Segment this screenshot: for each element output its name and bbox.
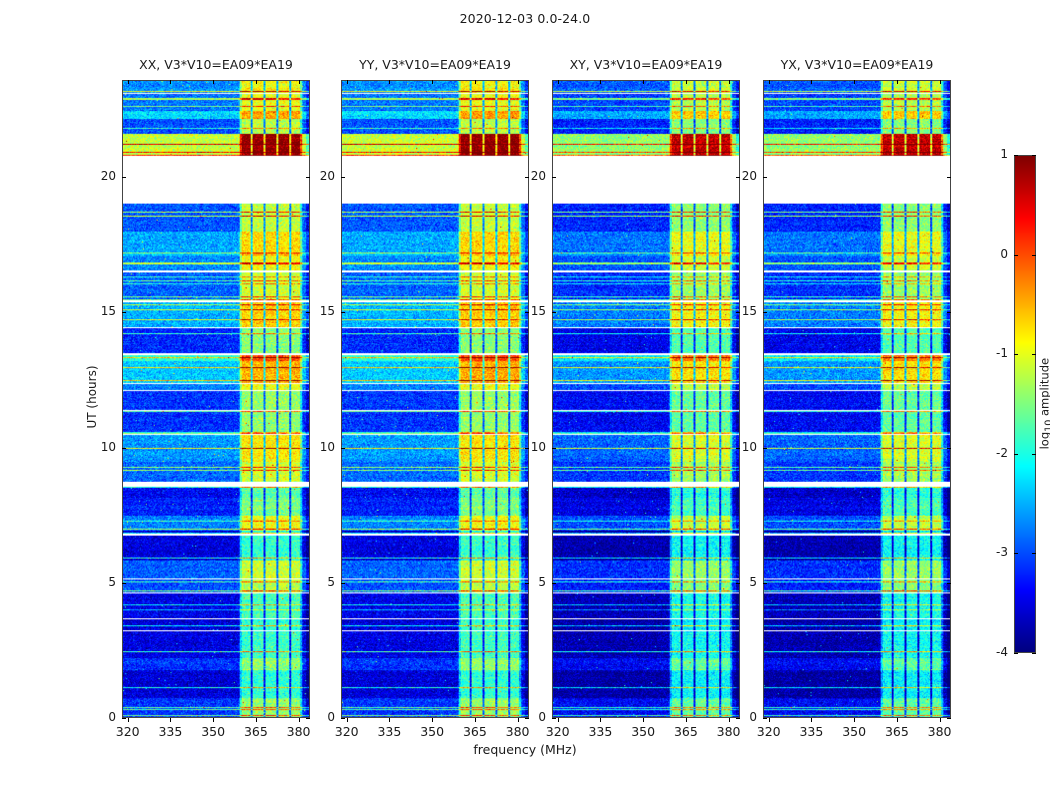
xtick-mark-top	[686, 80, 687, 84]
ytick-mark	[763, 177, 767, 178]
ytick-label-2-20: 20	[512, 169, 546, 183]
xtick-mark-top	[475, 80, 476, 84]
cbtick-mark	[1014, 553, 1018, 554]
xtick-mark	[811, 718, 812, 722]
panel-title-yx: YX, V3*V10=EA09*EA19	[733, 57, 981, 72]
xtick-mark-top	[897, 80, 898, 84]
cbtick-mark-r	[1032, 553, 1036, 554]
xtick-label-0-335: 335	[148, 724, 192, 739]
xtick-label-2-365: 365	[664, 724, 708, 739]
ytick-mark	[341, 177, 345, 178]
xtick-mark-top	[518, 80, 519, 84]
xtick-mark-top	[940, 80, 941, 84]
ytick-mark	[763, 718, 767, 719]
xtick-mark-top	[643, 80, 644, 84]
waterfall-panel-yx[interactable]	[763, 80, 951, 718]
ytick-label-3-20: 20	[723, 169, 757, 183]
xtick-mark-top	[389, 80, 390, 84]
cbtick-mark-r	[1032, 653, 1036, 654]
ytick-mark-r	[947, 177, 951, 178]
colorbar-label: log10 amplitude	[1037, 354, 1050, 454]
ytick-label-2-15: 15	[512, 304, 546, 318]
figure-suptitle: 2020-12-03 0.0-24.0	[0, 11, 1050, 26]
xtick-label-0-350: 350	[191, 724, 235, 739]
xtick-mark	[256, 718, 257, 722]
cbtick-mark	[1014, 653, 1018, 654]
xtick-mark-top	[769, 80, 770, 84]
xtick-label-0-365: 365	[234, 724, 278, 739]
ytick-mark	[122, 718, 126, 719]
ytick-mark	[341, 583, 345, 584]
xtick-label-2-380: 380	[707, 724, 751, 739]
xtick-label-1-320: 320	[325, 724, 369, 739]
ytick-mark-r	[947, 312, 951, 313]
cbtick-label--4: -4	[978, 645, 1008, 659]
xtick-label-1-380: 380	[496, 724, 540, 739]
cbtick-mark-r	[1032, 454, 1036, 455]
xtick-mark-top	[600, 80, 601, 84]
waterfall-panel-yy[interactable]	[341, 80, 529, 718]
ytick-mark	[122, 448, 126, 449]
cbtick-label-0: 0	[978, 247, 1008, 261]
ytick-mark	[122, 177, 126, 178]
ytick-mark	[341, 448, 345, 449]
ytick-label-2-0: 0	[512, 710, 546, 724]
xtick-mark	[686, 718, 687, 722]
ytick-mark	[341, 312, 345, 313]
xtick-mark	[940, 718, 941, 722]
cbtick-label--3: -3	[978, 545, 1008, 559]
ytick-label-1-0: 0	[301, 710, 335, 724]
xtick-mark	[213, 718, 214, 722]
ytick-mark	[552, 718, 556, 719]
ytick-label-1-5: 5	[301, 575, 335, 589]
xtick-mark	[347, 718, 348, 722]
xtick-mark-top	[213, 80, 214, 84]
ytick-label-1-15: 15	[301, 304, 335, 318]
cbtick-mark-r	[1032, 354, 1036, 355]
xtick-label-3-350: 350	[832, 724, 876, 739]
waterfall-panel-xx[interactable]	[122, 80, 310, 718]
ytick-label-0-0: 0	[82, 710, 116, 724]
xtick-mark	[475, 718, 476, 722]
cbtick-mark	[1014, 155, 1018, 156]
xtick-mark	[128, 718, 129, 722]
waterfall-panel-xy[interactable]	[552, 80, 740, 718]
x-axis-label: frequency (MHz)	[0, 742, 1050, 757]
ytick-label-1-20: 20	[301, 169, 335, 183]
ytick-label-3-5: 5	[723, 575, 757, 589]
ytick-label-3-10: 10	[723, 440, 757, 454]
colorbar[interactable]	[1014, 155, 1036, 653]
ytick-label-1-10: 10	[301, 440, 335, 454]
ytick-label-0-10: 10	[82, 440, 116, 454]
ytick-mark-r	[947, 448, 951, 449]
xtick-label-2-320: 320	[536, 724, 580, 739]
xtick-label-3-335: 335	[789, 724, 833, 739]
ytick-mark	[341, 718, 345, 719]
cbtick-label-1: 1	[978, 147, 1008, 161]
ytick-mark	[552, 312, 556, 313]
cbtick-mark	[1014, 454, 1018, 455]
xtick-mark-top	[170, 80, 171, 84]
xtick-label-1-335: 335	[367, 724, 411, 739]
xtick-mark	[558, 718, 559, 722]
ytick-mark	[763, 448, 767, 449]
cbtick-mark-r	[1032, 155, 1036, 156]
ytick-label-0-15: 15	[82, 304, 116, 318]
xtick-label-2-350: 350	[621, 724, 665, 739]
cbtick-mark-r	[1032, 255, 1036, 256]
xtick-mark	[643, 718, 644, 722]
ytick-mark	[763, 312, 767, 313]
ytick-mark	[122, 312, 126, 313]
ytick-mark	[122, 583, 126, 584]
ytick-label-2-10: 10	[512, 440, 546, 454]
ytick-label-3-0: 0	[723, 710, 757, 724]
xtick-mark-top	[729, 80, 730, 84]
xtick-label-3-320: 320	[747, 724, 791, 739]
xtick-mark	[854, 718, 855, 722]
y-axis-label: UT (hours)	[85, 347, 99, 447]
panel-title-xx: XX, V3*V10=EA09*EA19	[92, 57, 340, 72]
xtick-mark	[299, 718, 300, 722]
xtick-label-0-320: 320	[106, 724, 150, 739]
xtick-mark	[389, 718, 390, 722]
xtick-label-1-350: 350	[410, 724, 454, 739]
xtick-mark-top	[811, 80, 812, 84]
xtick-mark	[897, 718, 898, 722]
xtick-mark	[600, 718, 601, 722]
ytick-label-2-5: 5	[512, 575, 546, 589]
ytick-mark	[763, 583, 767, 584]
xtick-mark-top	[299, 80, 300, 84]
ytick-mark	[552, 583, 556, 584]
xtick-mark	[432, 718, 433, 722]
xtick-mark-top	[128, 80, 129, 84]
xtick-mark-top	[558, 80, 559, 84]
cbtick-mark	[1014, 354, 1018, 355]
xtick-mark-top	[347, 80, 348, 84]
xtick-mark	[170, 718, 171, 722]
xtick-label-3-365: 365	[875, 724, 919, 739]
ytick-label-0-5: 5	[82, 575, 116, 589]
xtick-label-3-380: 380	[918, 724, 962, 739]
xtick-label-0-380: 380	[277, 724, 321, 739]
cbtick-label--2: -2	[978, 446, 1008, 460]
ytick-label-0-20: 20	[82, 169, 116, 183]
xtick-label-2-335: 335	[578, 724, 622, 739]
xtick-label-1-365: 365	[453, 724, 497, 739]
ytick-mark	[552, 177, 556, 178]
cbtick-mark	[1014, 255, 1018, 256]
xtick-mark-top	[256, 80, 257, 84]
ytick-mark	[552, 448, 556, 449]
ytick-label-3-15: 15	[723, 304, 757, 318]
cbtick-label--1: -1	[978, 346, 1008, 360]
ytick-mark-r	[947, 718, 951, 719]
xtick-mark-top	[432, 80, 433, 84]
xtick-mark	[769, 718, 770, 722]
ytick-mark-r	[947, 583, 951, 584]
xtick-mark-top	[854, 80, 855, 84]
